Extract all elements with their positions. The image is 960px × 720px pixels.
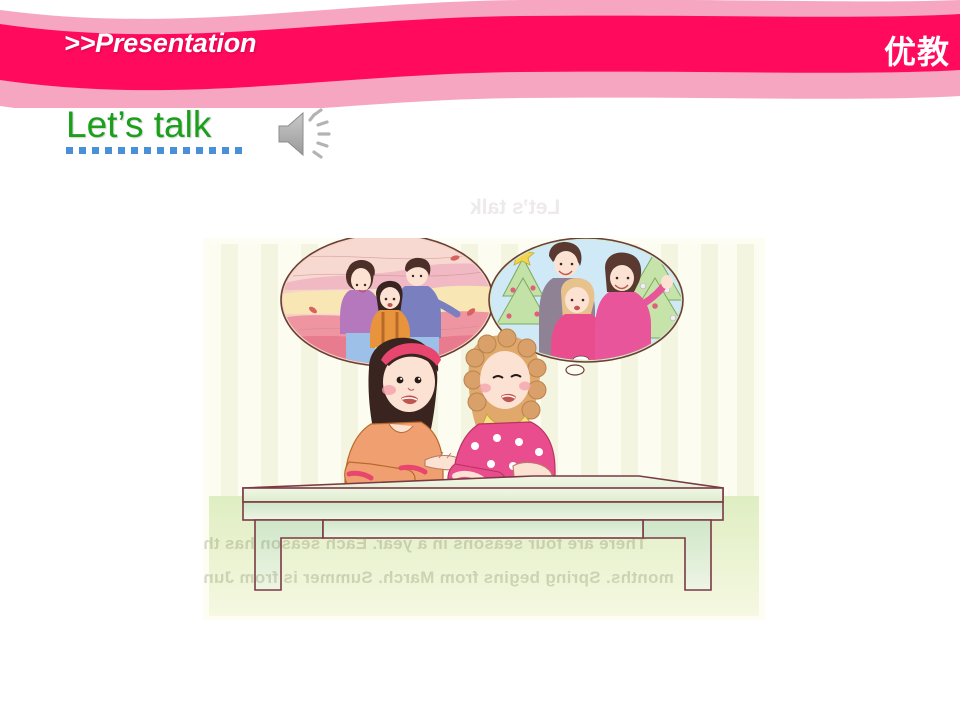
bleed-through-line-2: months. Spring begins from March. Summer… [203, 568, 674, 588]
section-title-block: Let’s talk [66, 103, 211, 147]
logo-text: 优教 [884, 30, 950, 74]
illustration-graphic [203, 238, 765, 620]
brand-logo: 优教 [828, 26, 946, 82]
title-dotted-underline [66, 147, 242, 154]
speaker-sound-icon [276, 106, 338, 162]
header-banner: >>Presentation 优教 [0, 0, 960, 108]
presentation-slide: >>Presentation 优教 Let’s talk [0, 0, 960, 720]
bleed-through-top-text: Let’s talk [470, 196, 560, 220]
lesson-illustration: There are four seasons in a year. Each s… [203, 238, 765, 620]
page-title: Let’s talk [66, 103, 211, 147]
presentation-title: >>Presentation [64, 28, 256, 59]
bleed-through-line-1: There are four seasons in a year. Each s… [203, 534, 647, 554]
audio-speaker-button[interactable] [276, 106, 338, 162]
